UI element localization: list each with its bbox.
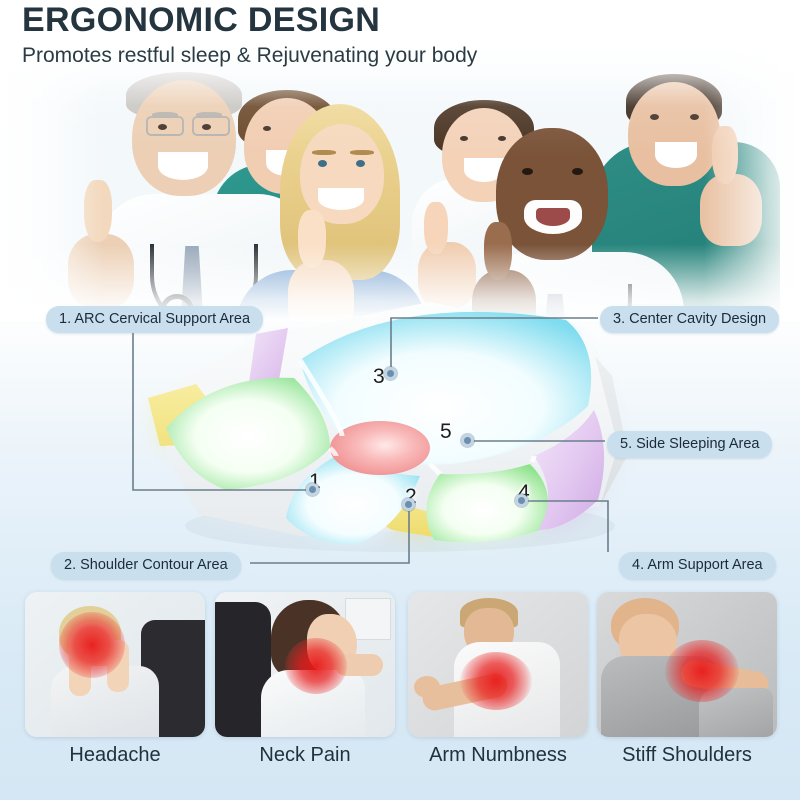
pain-indicator-headache xyxy=(59,612,125,678)
pain-indicator-shoulder xyxy=(665,640,739,702)
zone-marker-dot-4 xyxy=(515,494,528,507)
symptom-card-neck-pain[interactable] xyxy=(215,592,395,737)
symptom-label-arm-numbness: Arm Numbness xyxy=(408,744,588,767)
header: ERGONOMIC DESIGN Promotes restful sleep … xyxy=(22,2,782,68)
pain-indicator-arm xyxy=(460,652,532,710)
callout-3-center-cavity-design[interactable]: 3. Center Cavity Design xyxy=(600,306,779,333)
symptom-card-arm-numbness[interactable] xyxy=(408,592,588,737)
symptom-card-row: Headache Neck Pain Arm Numbness xyxy=(0,592,800,800)
callout-2-shoulder-contour-area[interactable]: 2. Shoulder Contour Area xyxy=(51,552,241,579)
zone-number-3: 3 xyxy=(373,365,385,389)
zone-marker-dot-2 xyxy=(402,498,415,511)
pain-indicator-neck xyxy=(285,638,347,694)
zone-marker-dot-3 xyxy=(384,367,397,380)
page-title: ERGONOMIC DESIGN xyxy=(22,2,782,39)
zone-marker-dot-1 xyxy=(306,483,319,496)
callout-4-arm-support-area[interactable]: 4. Arm Support Area xyxy=(619,552,776,579)
symptom-label-neck-pain: Neck Pain xyxy=(215,744,395,767)
symptom-label-stiff-shoulders: Stiff Shoulders xyxy=(597,744,777,767)
symptom-card-headache[interactable] xyxy=(25,592,205,737)
symptom-card-stiff-shoulders[interactable] xyxy=(597,592,777,737)
callout-5-side-sleeping-area[interactable]: 5. Side Sleeping Area xyxy=(607,431,772,458)
callout-1-arc-cervical-support-area[interactable]: 1. ARC Cervical Support Area xyxy=(46,306,263,333)
zone-number-5: 5 xyxy=(440,420,452,444)
ergonomic-design-infographic: ERGONOMIC DESIGN Promotes restful sleep … xyxy=(0,0,800,800)
zone-marker-dot-5 xyxy=(461,434,474,447)
symptom-label-headache: Headache xyxy=(25,744,205,767)
page-subtitle: Promotes restful sleep & Rejuvenating yo… xyxy=(22,44,782,68)
